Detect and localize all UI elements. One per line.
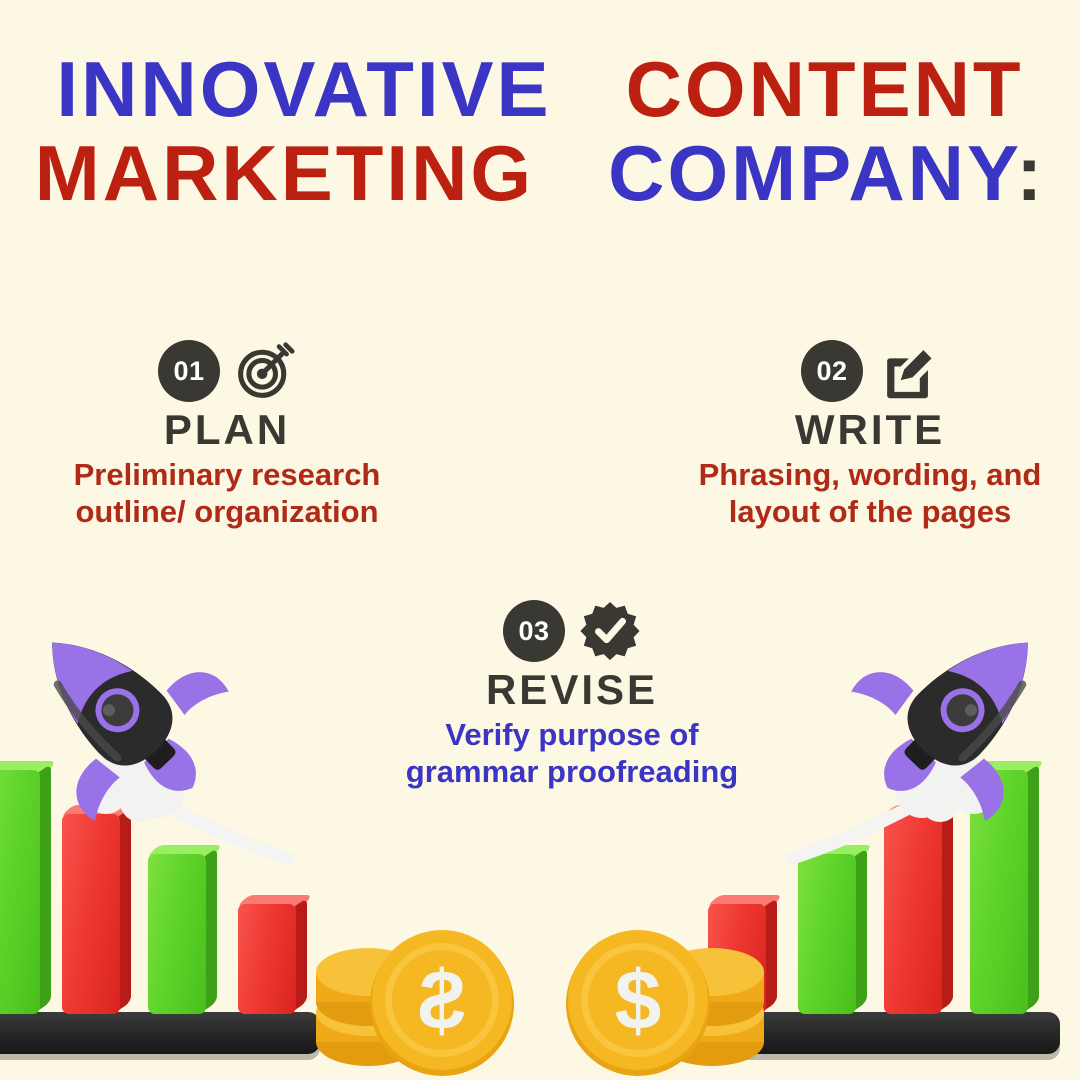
step-03-revise: 03 REVISE Verify purpose of grammar proo… bbox=[392, 600, 752, 790]
rocket-right bbox=[782, 596, 1080, 886]
verified-check-badge-icon bbox=[579, 600, 641, 662]
target-icon bbox=[234, 340, 296, 402]
svg-text:$: $ bbox=[615, 953, 662, 1047]
title-line-2: MARKETING COMPANY: bbox=[0, 136, 1080, 210]
left-chart-base bbox=[0, 1012, 320, 1054]
title-colon: : bbox=[1016, 129, 1045, 217]
left-bar-4-red bbox=[238, 904, 296, 1014]
step-01-header: 01 bbox=[62, 340, 392, 402]
step-02-header: 02 bbox=[690, 340, 1050, 402]
rocket-left bbox=[0, 596, 298, 886]
svg-text:$: $ bbox=[419, 953, 466, 1047]
step-01-plan: 01 PLAN Preliminary research outline/ or… bbox=[62, 340, 392, 530]
page-title: INNOVATIVE CONTENT MARKETING COMPANY: bbox=[0, 52, 1080, 210]
pencil-square-icon bbox=[877, 340, 939, 402]
title-word-company: COMPANY bbox=[608, 129, 1016, 217]
step-03-header: 03 bbox=[392, 600, 752, 662]
step-01-title: PLAN bbox=[62, 408, 392, 452]
step-02-number-badge: 02 bbox=[801, 340, 863, 402]
coin-stack-left: $ bbox=[316, 916, 516, 1080]
step-02-description: Phrasing, wording, and layout of the pag… bbox=[690, 456, 1050, 530]
step-01-description: Preliminary research outline/ organizati… bbox=[62, 456, 392, 530]
title-word-innovative: INNOVATIVE bbox=[56, 45, 551, 133]
step-03-number-badge: 03 bbox=[503, 600, 565, 662]
title-word-marketing: MARKETING bbox=[35, 129, 534, 217]
title-line-1: INNOVATIVE CONTENT bbox=[0, 52, 1080, 126]
coin-stack-right: $ bbox=[564, 916, 764, 1080]
step-03-title: REVISE bbox=[392, 668, 752, 712]
step-02-title: WRITE bbox=[690, 408, 1050, 452]
infographic-poster: INNOVATIVE CONTENT MARKETING COMPANY: 01 bbox=[0, 0, 1080, 1080]
step-02-write: 02 WRITE Phrasing, wording, and layout o… bbox=[690, 340, 1050, 530]
title-word-content: CONTENT bbox=[626, 45, 1024, 133]
step-01-number-badge: 01 bbox=[158, 340, 220, 402]
step-03-description: Verify purpose of grammar proofreading bbox=[392, 716, 752, 790]
